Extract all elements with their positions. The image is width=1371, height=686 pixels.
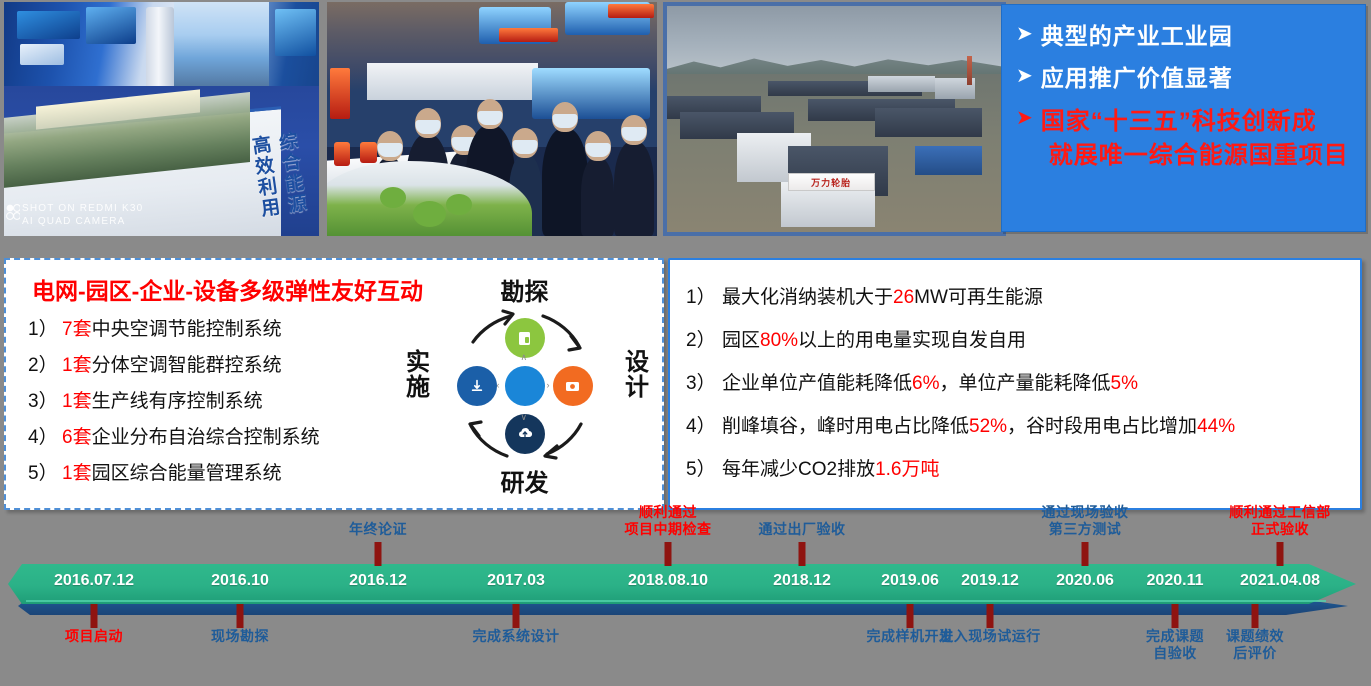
timeline-bar-highlight — [26, 600, 1326, 602]
milestone-tick — [1252, 604, 1259, 628]
milestone-tick — [1082, 542, 1089, 566]
milestone-date: 2016.12 — [349, 572, 407, 590]
banner-line-1: ➤ 典型的产业工业园 — [1016, 21, 1355, 51]
milestone-label: 年终论证 — [349, 521, 407, 538]
watermark-line-1: SHOT ON REDMI K30 — [22, 202, 143, 215]
camera-watermark: SHOT ON REDMI K30 AI QUAD CAMERA — [22, 202, 143, 228]
screen-panel — [86, 7, 136, 44]
milestone-label: 完成系统设计 — [473, 628, 560, 645]
milestone-tick — [375, 542, 382, 566]
banner-line-3-text: 国家“十三五”科技创新成 — [1041, 105, 1349, 139]
milestone-tick — [907, 604, 914, 628]
milestone-label: 通过现场验收第三方测试 — [1042, 504, 1129, 538]
banner-line-2: ➤ 应用推广价值显著 — [1016, 63, 1355, 93]
milestone-label-line: 完成课题 — [1146, 628, 1204, 645]
metric-list-item: 3）企业单位产值能耗降低6%，单位产量能耗降低5% — [686, 362, 1350, 405]
metric-value: 80% — [760, 330, 798, 351]
metric-phrase: ，单位产量能耗降低 — [939, 373, 1110, 394]
exhibition-poster — [174, 2, 269, 96]
milestone-label-line: 进入现场试运行 — [939, 628, 1041, 645]
metric-value: 1.6万吨 — [875, 459, 939, 480]
list-item-quantity: 1套 — [62, 456, 92, 492]
milestone-label-line: 现场勘探 — [211, 628, 269, 645]
milestone-label-line: 项目启动 — [65, 628, 123, 645]
milestone-date: 2018.12 — [773, 572, 831, 590]
list-item-number: 4） — [28, 420, 62, 456]
red-led-banner — [608, 4, 654, 18]
metric-list-item: 5）每年减少CO2排放1.6万吨 — [686, 448, 1350, 491]
factory-sign: 万力轮胎 — [788, 173, 875, 191]
banner-line-3: ➤ 国家“十三五”科技创新成 就展唯一综合能源国重项目 — [1016, 105, 1355, 173]
camera-node — [553, 366, 593, 406]
cooling-tower-model — [146, 7, 174, 96]
slide-canvas: 综合能源高效利用 SHOT ON REDMI K30 AI QUAD CAMER… — [0, 0, 1371, 686]
milestone-label: 顺利通过工信部正式验收 — [1229, 504, 1331, 538]
banner-line-2-text: 应用推广价值显著 — [1041, 63, 1233, 93]
milestone-label-line: 正式验收 — [1229, 521, 1331, 538]
list-item-number: 5） — [686, 448, 722, 491]
milestone-date: 2019.06 — [881, 572, 939, 590]
chevron-right-icon: ➤ — [1016, 105, 1033, 131]
milestone-date: 2019.12 — [961, 572, 1019, 590]
banner-line-3-text-2: 就展唯一综合能源国重项目 — [1041, 139, 1349, 173]
milestone-label-line: 自验收 — [1146, 645, 1204, 662]
metric-value: 5% — [1111, 373, 1138, 394]
highlights-banner: ➤ 典型的产业工业园 ➤ 应用推广价值显著 ➤ 国家“十三五”科技创新成 就展唯… — [1001, 4, 1366, 232]
screen-panel — [275, 9, 316, 56]
screen-panel — [20, 44, 64, 65]
list-item-quantity: 1套 — [62, 348, 92, 384]
chevron-right-icon: ➤ — [1016, 21, 1033, 47]
milestone-tick — [237, 604, 244, 628]
screen-panel — [17, 11, 80, 39]
list-item-number: 1） — [686, 276, 722, 319]
metric-phrase: 园区 — [722, 330, 760, 351]
project-timeline: 2016.07.12项目启动2016.10现场勘探2016.12年终论证2017… — [0, 512, 1371, 686]
milestone-label: 通过出厂验收 — [759, 521, 846, 538]
metric-phrase: 每年减少CO2排放 — [722, 459, 875, 480]
list-item-text: 中央空调节能控制系统 — [92, 312, 282, 348]
list-item-quantity: 1套 — [62, 384, 92, 420]
elastic-interaction-panel: 电网-园区-企业-设备多级弹性友好互动 1）7套中央空调节能控制系统2）1套分体… — [4, 258, 664, 510]
milestone-label: 顺利通过项目中期检查 — [625, 504, 712, 538]
list-item-text: 企业分布自治综合控制系统 — [92, 420, 320, 456]
milestone-tick — [91, 604, 98, 628]
milestone-date: 2016.10 — [211, 572, 269, 590]
milestone-label-line: 顺利通过工信部 — [1229, 504, 1331, 521]
list-item-text: 生产线有序控制系统 — [92, 384, 263, 420]
metric-value: 6% — [912, 373, 939, 394]
list-item-number: 1） — [28, 312, 62, 348]
metric-list-item: 1）最大化消纳装机大于26MW可再生能源 — [686, 276, 1350, 319]
list-item-number: 2） — [28, 348, 62, 384]
chimney — [967, 56, 972, 85]
milestone-label-line: 课题绩效 — [1226, 628, 1284, 645]
milestone-label-line: 第三方测试 — [1042, 521, 1129, 538]
milestone-date: 2021.04.08 — [1240, 572, 1320, 590]
milestone-label-line: 项目中期检查 — [625, 521, 712, 538]
chevron-right-icon: ➤ — [1016, 63, 1033, 89]
cycle-nodes: ∧ › ∨ ‹ — [397, 274, 652, 498]
milestone-label-line: 后评价 — [1226, 645, 1284, 662]
list-item-text: 分体空调智能群控系统 — [92, 348, 282, 384]
red-led-banner — [499, 28, 558, 42]
milestone-tick — [1277, 542, 1284, 566]
exhibition-model-photo: 综合能源高效利用 SHOT ON REDMI K30 AI QUAD CAMER… — [4, 2, 319, 236]
metric-phrase: ，谷时段用电占比增加 — [1007, 416, 1197, 437]
list-item-quantity: 6套 — [62, 420, 92, 456]
metric-value: 52% — [969, 416, 1007, 437]
milestone-label: 项目启动 — [65, 628, 123, 645]
milestone-label: 完成课题自验收 — [1146, 628, 1204, 662]
redmi-watermark-icon — [6, 204, 20, 226]
milestone-label-line: 通过出厂验收 — [759, 521, 846, 538]
milestone-tick — [987, 604, 994, 628]
list-item-quantity: 7套 — [62, 312, 92, 348]
milestone-label: 现场勘探 — [211, 628, 269, 645]
metric-list-item: 2）园区80%以上的用电量实现自发自用 — [686, 319, 1350, 362]
metric-phrase: 企业单位产值能耗降低 — [722, 373, 912, 394]
milestone-date: 2018.08.10 — [628, 572, 708, 590]
metric-text: 企业单位产值能耗降低6%，单位产量能耗降低5% — [722, 362, 1138, 405]
list-item-number: 3） — [686, 362, 722, 405]
list-item-number: 4） — [686, 405, 722, 448]
milestone-tick — [665, 542, 672, 566]
milestone-label-line: 通过现场验收 — [1042, 504, 1129, 521]
milestone-tick — [513, 604, 520, 628]
metric-text: 削峰填谷，峰时用电占比降低52%，谷时段用电占比增加44% — [722, 405, 1235, 448]
metric-text: 每年减少CO2排放1.6万吨 — [722, 448, 940, 491]
metric-value: 44% — [1197, 416, 1235, 437]
list-item-number: 2） — [686, 319, 722, 362]
metric-phrase: 以上的用电量实现自发自用 — [798, 330, 1026, 351]
leaders-visit-photo — [327, 2, 657, 236]
watermark-line-2: AI QUAD CAMERA — [22, 215, 143, 228]
metric-value: 26 — [893, 287, 914, 308]
metric-phrase: 削峰填谷，峰时用电占比降低 — [722, 416, 969, 437]
metrics-list: 1）最大化消纳装机大于26MW可再生能源2）园区80%以上的用电量实现自发自用3… — [686, 276, 1350, 491]
milestone-label-line: 完成系统设计 — [473, 628, 560, 645]
metric-list-item: 4）削峰填谷，峰时用电占比降低52%，谷时段用电占比增加44% — [686, 405, 1350, 448]
aerial-industrial-park-photo: 万力轮胎 — [663, 2, 1006, 236]
metric-text: 园区80%以上的用电量实现自发自用 — [722, 319, 1026, 362]
cycle-diagram: 勘探 设计 研发 实施 ∧ › ∨ — [397, 274, 652, 498]
milestone-tick — [799, 542, 806, 566]
milestone-date: 2017.03 — [487, 572, 545, 590]
download-node — [457, 366, 497, 406]
milestone-date: 2016.07.12 — [54, 572, 134, 590]
milestone-label-line: 年终论证 — [349, 521, 407, 538]
milestone-date: 2020.06 — [1056, 572, 1114, 590]
list-item-number: 5） — [28, 456, 62, 492]
milestone-date: 2020.11 — [1147, 572, 1204, 590]
list-item-text: 园区综合能量管理系统 — [92, 456, 282, 492]
metric-phrase: 最大化消纳装机大于 — [722, 287, 893, 308]
milestone-label-line: 顺利通过 — [625, 504, 712, 521]
milestone-label: 课题绩效后评价 — [1226, 628, 1284, 662]
list-item-number: 3） — [28, 384, 62, 420]
performance-metrics-panel: 1）最大化消纳装机大于26MW可再生能源2）园区80%以上的用电量实现自发自用3… — [668, 258, 1362, 510]
milestone-label: 进入现场试运行 — [939, 628, 1041, 645]
metric-text: 最大化消纳装机大于26MW可再生能源 — [722, 276, 1043, 319]
metric-phrase: MW可再生能源 — [914, 287, 1043, 308]
center-node — [505, 366, 545, 406]
banner-line-1-text: 典型的产业工业园 — [1041, 21, 1233, 51]
milestone-tick — [1172, 604, 1179, 628]
